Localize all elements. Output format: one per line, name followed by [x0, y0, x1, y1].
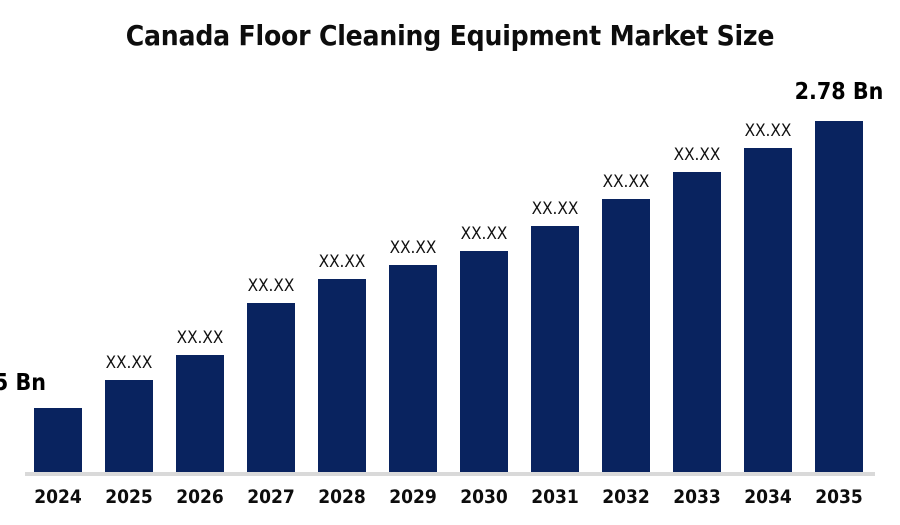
bar-2024[interactable] [34, 408, 82, 472]
bar-group-2033: XX.XX2033 [673, 0, 721, 525]
bar-group-2031: XX.XX2031 [531, 0, 579, 525]
bar-group-2025: XX.XX2025 [105, 0, 153, 525]
bar-value-label-2026: XX.XX [154, 329, 246, 348]
bar-2027[interactable] [247, 303, 295, 472]
x-tick-label-2035: 2035 [793, 486, 885, 508]
bar-2026[interactable] [176, 355, 224, 472]
bar-value-label-2035: 2.78 Bn [793, 79, 885, 105]
bar-group-2029: XX.XX2029 [389, 0, 437, 525]
bar-group-2027: XX.XX2027 [247, 0, 295, 525]
bar-group-2024: 1.45 Bn2024 [34, 0, 82, 525]
bar-group-2030: XX.XX2030 [460, 0, 508, 525]
bar-group-2035: 2.78 Bn2035 [815, 0, 863, 525]
bar-group-2026: XX.XX2026 [176, 0, 224, 525]
bar-value-label-2024: 1.45 Bn [0, 370, 46, 396]
bar-2033[interactable] [673, 172, 721, 472]
plot-area: 1.45 Bn2024XX.XX2025XX.XX2026XX.XX2027XX… [0, 0, 900, 525]
bar-value-label-2032: XX.XX [580, 173, 672, 192]
bar-2029[interactable] [389, 265, 437, 472]
chart-figure: Canada Floor Cleaning Equipment Market S… [0, 0, 900, 525]
bar-value-label-2033: XX.XX [651, 146, 743, 165]
bar-2030[interactable] [460, 251, 508, 472]
bar-group-2032: XX.XX2032 [602, 0, 650, 525]
bar-value-label-2030: XX.XX [438, 225, 530, 244]
bar-value-label-2027: XX.XX [225, 277, 317, 296]
bar-2035[interactable] [815, 121, 863, 472]
bar-group-2034: XX.XX2034 [744, 0, 792, 525]
bar-2031[interactable] [531, 226, 579, 472]
bar-group-2028: XX.XX2028 [318, 0, 366, 525]
bar-2025[interactable] [105, 380, 153, 472]
bar-2034[interactable] [744, 148, 792, 472]
bar-value-label-2025: XX.XX [83, 354, 175, 373]
bar-value-label-2034: XX.XX [722, 122, 814, 141]
bar-2028[interactable] [318, 279, 366, 472]
bar-2032[interactable] [602, 199, 650, 472]
bar-value-label-2031: XX.XX [509, 200, 601, 219]
